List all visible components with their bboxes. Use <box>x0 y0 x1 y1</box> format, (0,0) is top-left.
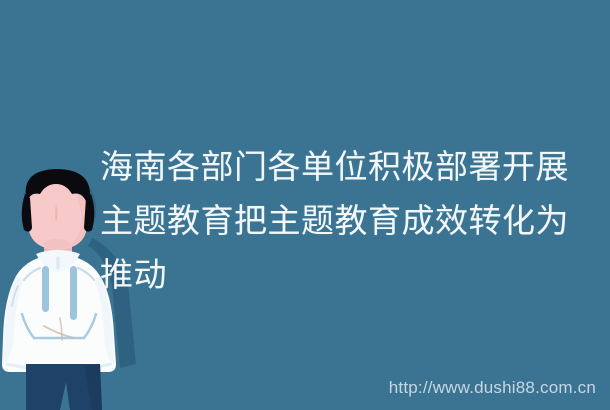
hoodie <box>2 250 116 372</box>
hoodie-drawstring-right <box>70 266 77 320</box>
news-thumbnail-card: 海南各部门各单位积极部署开展主题教育把主题教育成效转化为推动 http://ww… <box>0 0 610 410</box>
pants <box>26 364 102 410</box>
headline-text: 海南各部门各单位积极部署开展主题教育把主题教育成效转化为推动 <box>100 140 600 302</box>
chin-shade <box>44 239 70 249</box>
watermark-url: http://www.dushi88.com.cn <box>389 378 596 398</box>
hoodie-drawstring-left <box>42 266 49 312</box>
